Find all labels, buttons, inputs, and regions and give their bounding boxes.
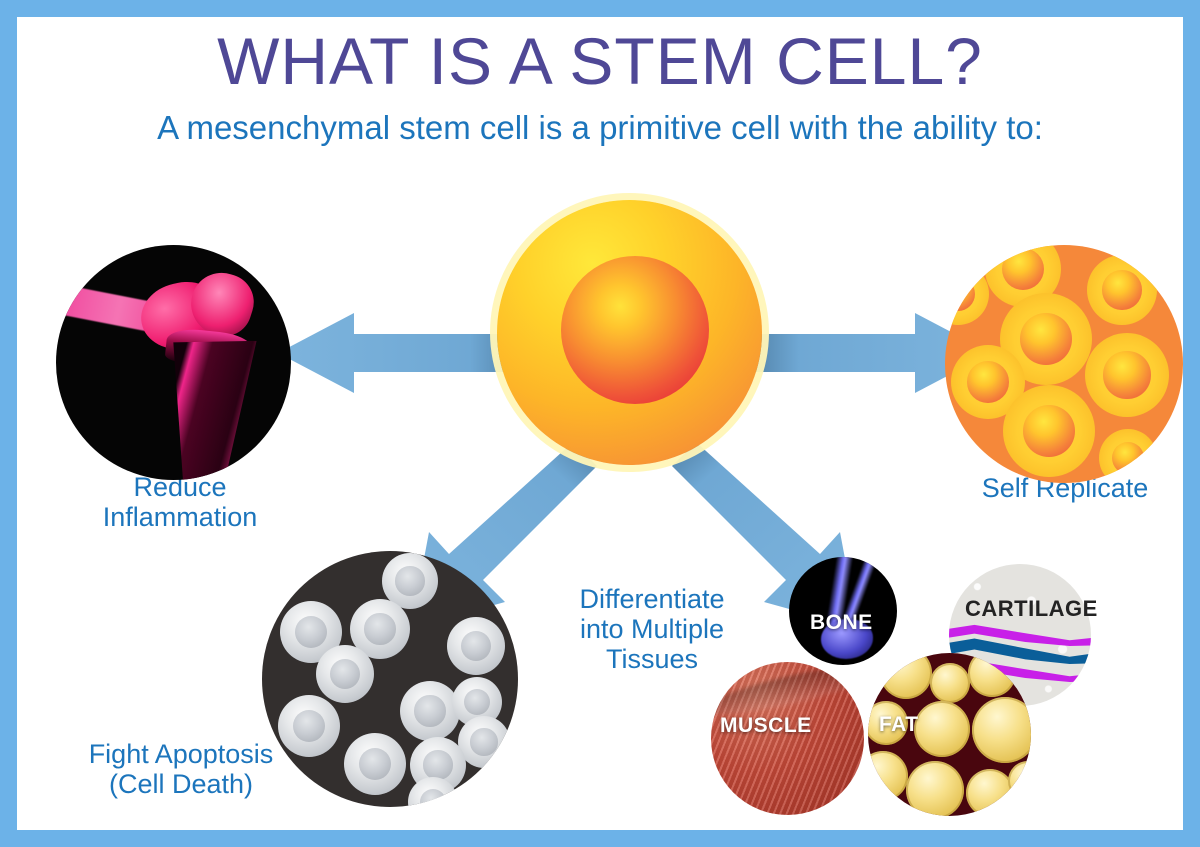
label-reduce-inflammation: Reduce Inflammation: [55, 472, 305, 532]
page-title: WHAT IS A STEM CELL?: [17, 28, 1183, 94]
stem-cell-nucleus: [561, 256, 709, 404]
replicating-cells-icon: [945, 245, 1183, 483]
grey-cells-icon: [262, 551, 518, 807]
tissue-label-bone: BONE: [810, 611, 873, 635]
tissue-label-muscle: MUSCLE: [720, 714, 812, 738]
tissue-label-fat: FAT: [879, 713, 919, 737]
infographic-canvas: WHAT IS A STEM CELL? A mesenchymal stem …: [17, 17, 1183, 830]
tissue-muscle-icon: [711, 662, 864, 815]
page-subtitle: A mesenchymal stem cell is a primitive c…: [17, 111, 1183, 144]
label-fight-apoptosis: Fight Apoptosis (Cell Death): [51, 739, 311, 799]
tissue-label-cartilage: CARTILAGE: [965, 596, 1098, 622]
xray-knee-joint-icon: [56, 245, 291, 480]
central-stem-cell: [487, 190, 772, 475]
